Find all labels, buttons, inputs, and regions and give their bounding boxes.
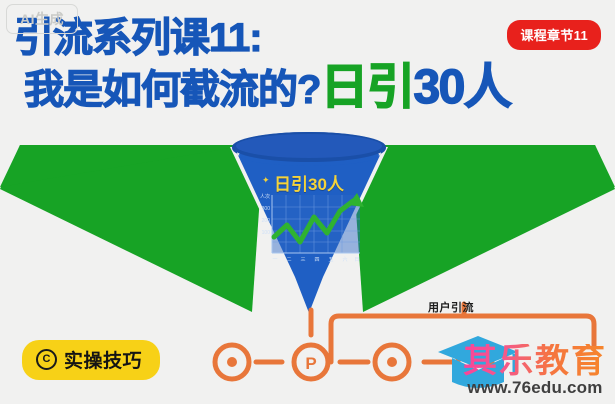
right-green-wedge — [353, 137, 615, 312]
tips-badge-label: 实操技巧 — [64, 346, 142, 373]
svg-text:P: P — [305, 354, 316, 373]
chapter-badge-label: 课程章节11 — [520, 28, 588, 43]
copyright-icon: C — [36, 349, 57, 370]
ai-watermark-label: AI生成 — [20, 9, 64, 29]
flow-node-p: P — [294, 345, 328, 379]
flow-node-3 — [375, 345, 409, 379]
flow-label: 用户引流 — [428, 299, 474, 315]
headline-green-emphasis: 日引 — [320, 64, 413, 112]
ai-generated-watermark: AI生成 — [6, 4, 78, 34]
headline-question: 我是如何截流的? — [24, 70, 320, 110]
flow-node-1 — [215, 345, 249, 379]
brand-logo: 其乐教育 www.76edu.com — [463, 344, 607, 398]
tips-badge: C 实操技巧 — [22, 340, 160, 380]
brand-url: www.76edu.com — [463, 378, 607, 398]
poster-canvas: AI生成 ✦ 日引30人 — [0, 0, 615, 404]
chapter-badge: 课程章节11 — [507, 20, 601, 50]
headline-block: 引流系列课11: 我是如何截流的? 日引 30人 — [14, 18, 510, 112]
brand-name: 其乐教育 — [463, 344, 607, 380]
headline-blue-emphasis: 30人 — [413, 64, 510, 112]
left-green-wedge — [0, 137, 262, 312]
